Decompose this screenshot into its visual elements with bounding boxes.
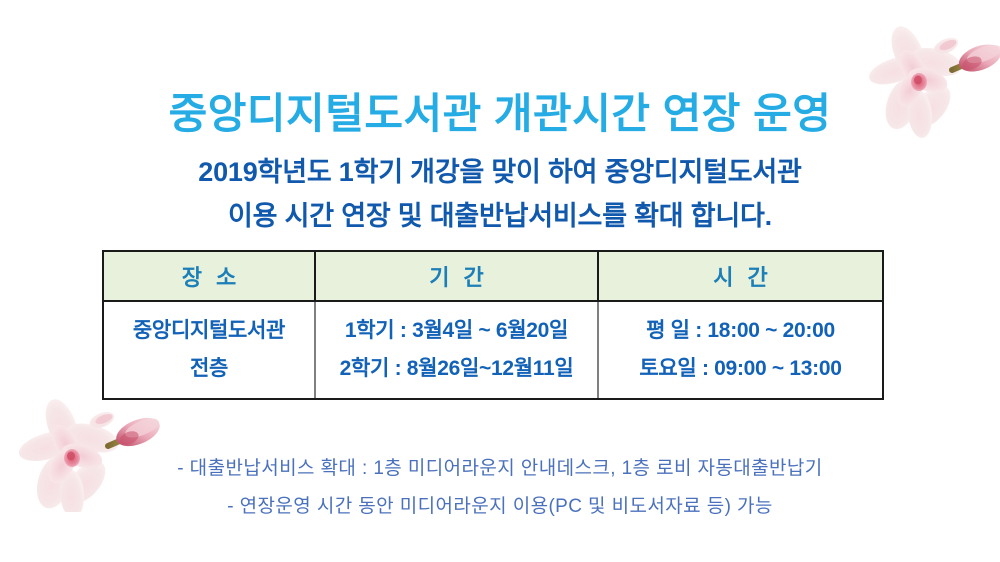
table-header-row: 장 소 기 간 시 간 bbox=[103, 251, 883, 301]
note-line-2: - 연장운영 시간 동안 미디어라운지 이용(PC 및 비도서자료 등) 가능 bbox=[0, 488, 1000, 526]
notes-block: - 대출반납서비스 확대 : 1층 미디어라운지 안내데스크, 1층 로비 자동… bbox=[0, 450, 1000, 526]
cell-period-line-2: 2학기 : 8월26일~12월11일 bbox=[316, 350, 597, 388]
schedule-table: 장 소 기 간 시 간 중앙디지털도서관 전층 1학기 : 3월4일 ~ 6월2… bbox=[102, 250, 884, 400]
cell-place-line-1: 중앙디지털도서관 bbox=[104, 312, 314, 350]
cell-place: 중앙디지털도서관 전층 bbox=[103, 301, 315, 399]
cell-period-line-1: 1학기 : 3월4일 ~ 6월20일 bbox=[316, 312, 597, 350]
cell-place-line-2: 전층 bbox=[104, 350, 314, 388]
column-header-time: 시 간 bbox=[598, 251, 883, 301]
note-line-1: - 대출반납서비스 확대 : 1층 미디어라운지 안내데스크, 1층 로비 자동… bbox=[0, 450, 1000, 488]
cell-time: 평 일 : 18:00 ~ 20:00 토요일 : 09:00 ~ 13:00 bbox=[598, 301, 883, 399]
cell-period: 1학기 : 3월4일 ~ 6월20일 2학기 : 8월26일~12월11일 bbox=[315, 301, 598, 399]
table-header: 장 소 기 간 시 간 bbox=[103, 251, 883, 301]
poster-canvas: 중앙디지털도서관 개관시간 연장 운영 2019학년도 1학기 개강을 맞이 하… bbox=[0, 0, 1000, 562]
page-title: 중앙디지털도서관 개관시간 연장 운영 bbox=[0, 80, 1000, 141]
subtitle-line-1: 2019학년도 1학기 개강을 맞이 하여 중앙디지털도서관 bbox=[0, 150, 1000, 194]
subtitle-line-2: 이용 시간 연장 및 대출반납서비스를 확대 합니다. bbox=[0, 194, 1000, 238]
cell-time-line-1: 평 일 : 18:00 ~ 20:00 bbox=[599, 312, 882, 350]
column-header-place: 장 소 bbox=[103, 251, 315, 301]
column-header-period: 기 간 bbox=[315, 251, 598, 301]
table-body: 중앙디지털도서관 전층 1학기 : 3월4일 ~ 6월20일 2학기 : 8월2… bbox=[103, 301, 883, 399]
subtitle-block: 2019학년도 1학기 개강을 맞이 하여 중앙디지털도서관 이용 시간 연장 … bbox=[0, 150, 1000, 238]
table-row: 중앙디지털도서관 전층 1학기 : 3월4일 ~ 6월20일 2학기 : 8월2… bbox=[103, 301, 883, 399]
cell-time-line-2: 토요일 : 09:00 ~ 13:00 bbox=[599, 350, 882, 388]
